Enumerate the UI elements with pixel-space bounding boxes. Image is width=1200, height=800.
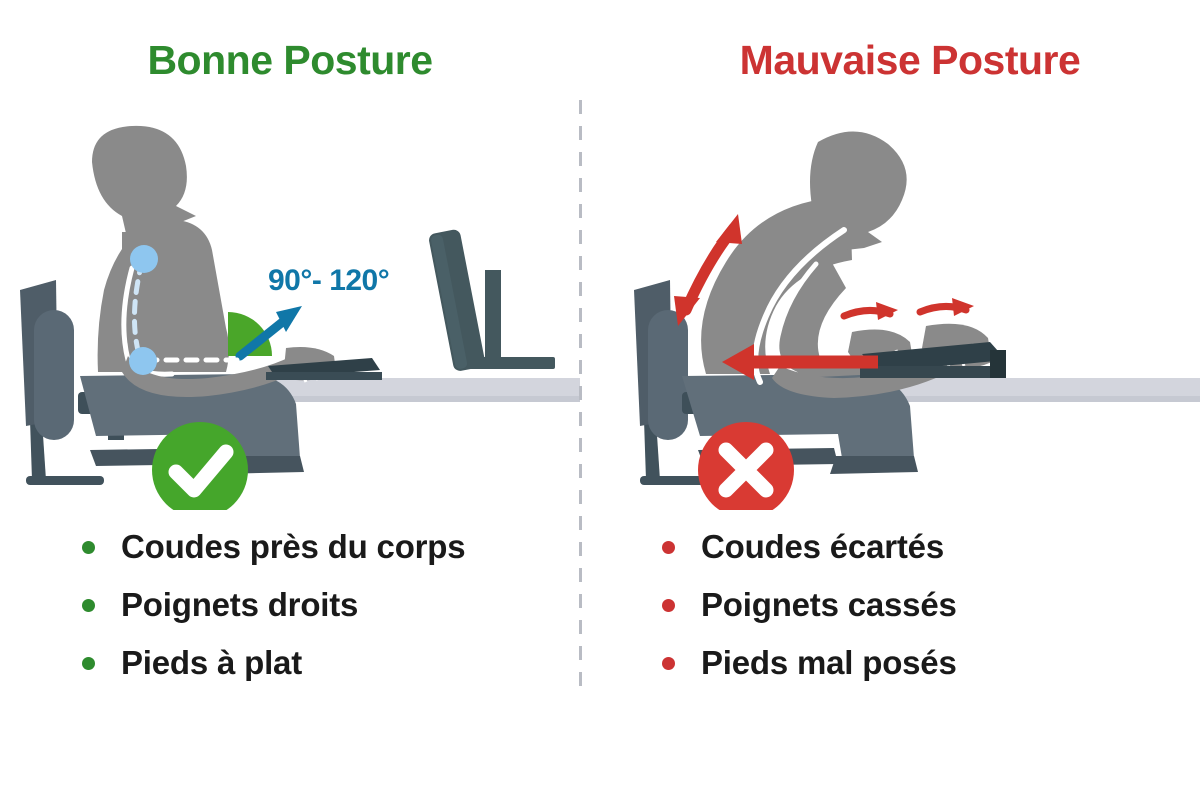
bullet-dot-icon — [662, 599, 675, 612]
joint-shoulder-dot — [130, 245, 158, 273]
foot-shape-right — [830, 456, 918, 474]
panel-good-posture: Bonne Posture — [0, 0, 580, 800]
bullet-list-good: Coudes près du corps Poignets droits Pie… — [0, 518, 580, 692]
list-item: Pieds mal posés — [620, 634, 1200, 692]
bullet-label: Poignets droits — [121, 586, 358, 624]
page-title-good-posture: Bonne Posture — [0, 40, 580, 81]
angle-annotation-label: 90°- 120° — [268, 264, 389, 298]
wrist-arrow-left-icon — [844, 302, 898, 320]
panel-divider — [579, 100, 582, 692]
bullet-label: Pieds à plat — [121, 644, 302, 682]
bullet-dot-icon — [82, 657, 95, 670]
list-item: Poignets droits — [0, 576, 580, 634]
bullet-dot-icon — [662, 657, 675, 670]
list-item: Coudes écartés — [620, 518, 1200, 576]
bullet-label: Pieds mal posés — [701, 644, 957, 682]
panel-bad-posture: Mauvaise Posture — [620, 0, 1200, 800]
illustration-good-posture — [0, 120, 580, 510]
bullet-dot-icon — [662, 541, 675, 554]
bullet-dot-icon — [82, 599, 95, 612]
bullet-dot-icon — [82, 541, 95, 554]
illustration-bad-posture — [620, 120, 1200, 510]
monitor-icon — [428, 229, 555, 373]
person-silhouette-good — [92, 126, 300, 397]
joint-elbow-dot — [129, 347, 157, 375]
bullet-label: Poignets cassés — [701, 586, 957, 624]
bullet-label: Coudes écartés — [701, 528, 944, 566]
infographic-stage: Bonne Posture — [0, 0, 1200, 800]
bullet-label: Coudes près du corps — [121, 528, 465, 566]
bullet-list-bad: Coudes écartés Poignets cassés Pieds mal… — [620, 518, 1200, 692]
list-item: Pieds à plat — [0, 634, 580, 692]
wrist-arrow-right-icon — [920, 298, 974, 316]
list-item: Poignets cassés — [620, 576, 1200, 634]
list-item: Coudes près du corps — [0, 518, 580, 576]
page-title-bad-posture: Mauvaise Posture — [620, 40, 1200, 81]
